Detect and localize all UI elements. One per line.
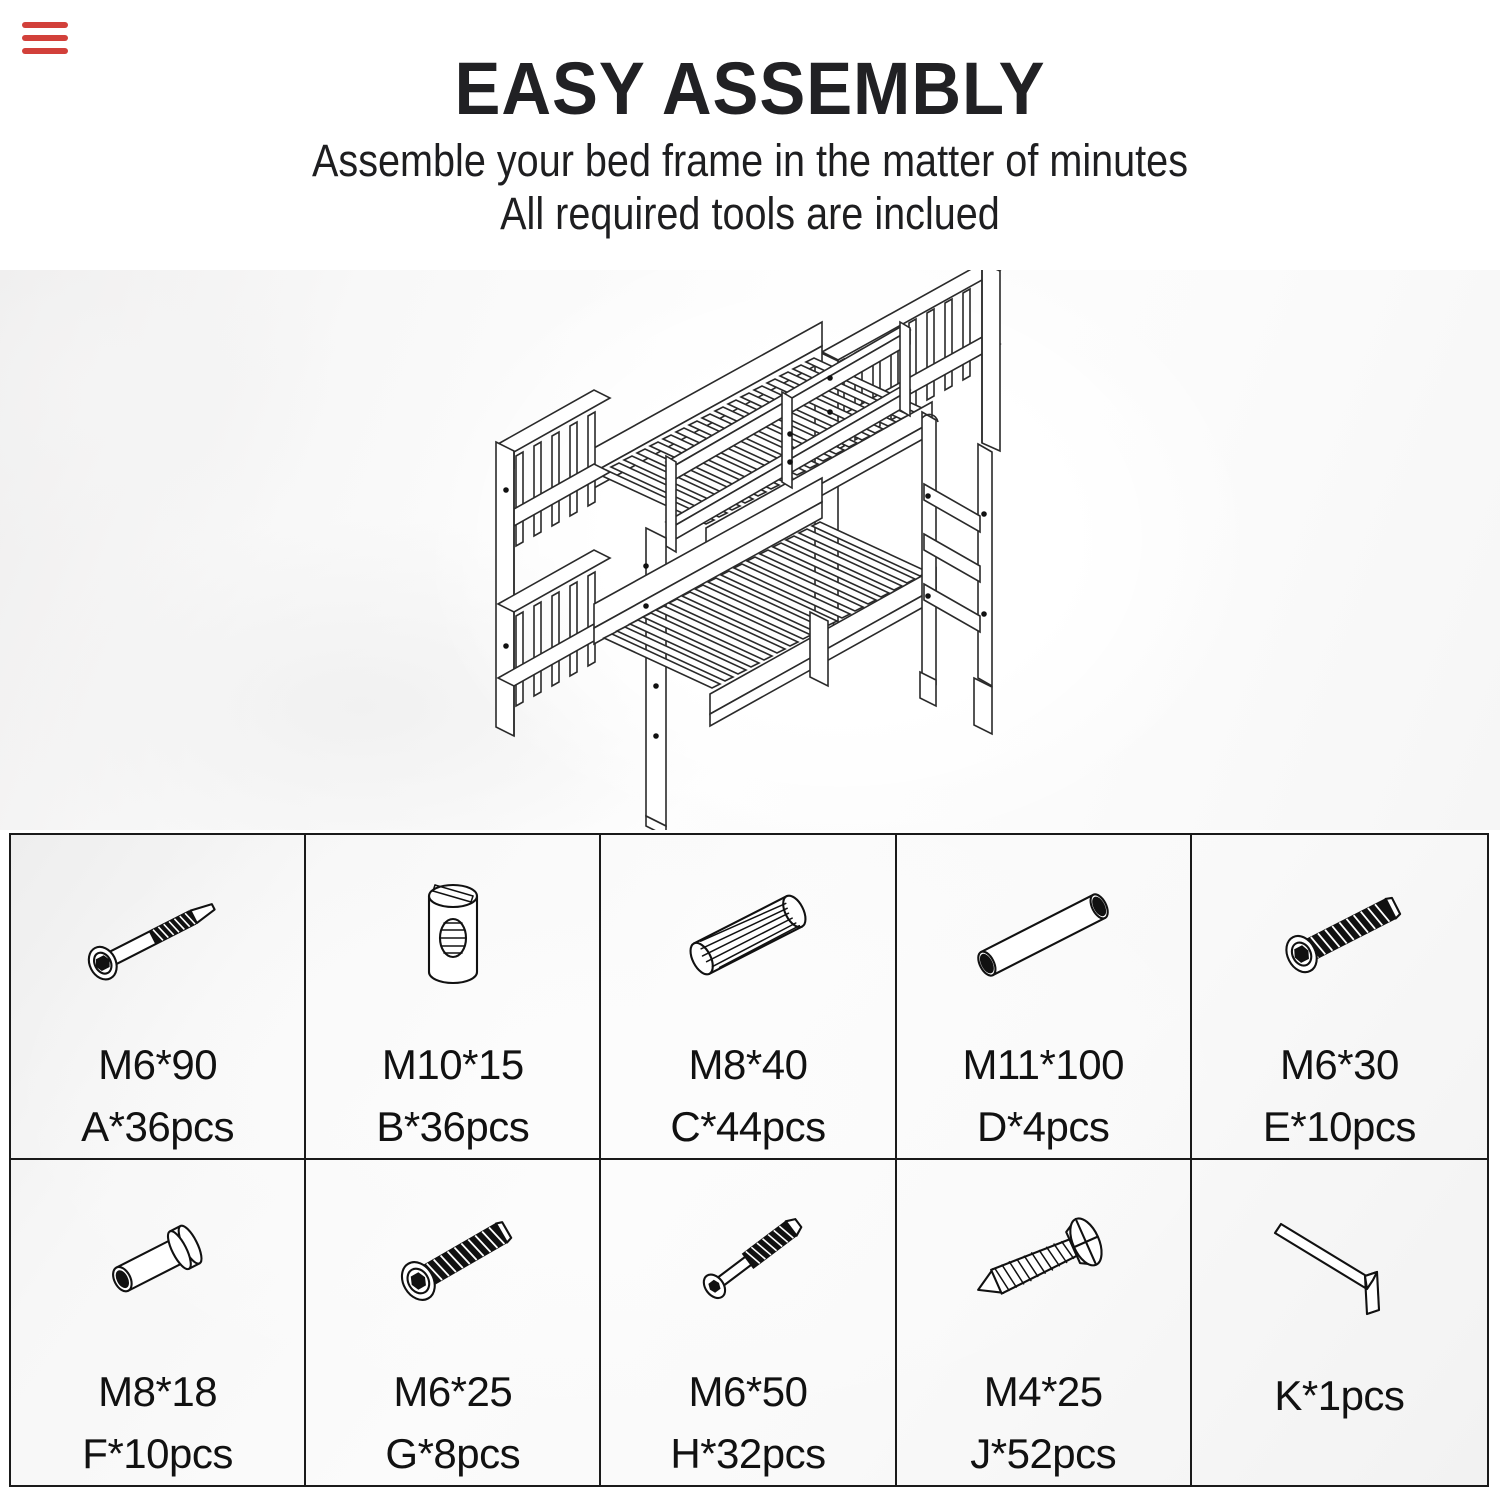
part-label-c: M8*40 C*44pcs <box>601 1034 894 1158</box>
metal-sleeve-icon <box>897 835 1190 1034</box>
part-qty-j: J*52pcs <box>897 1423 1190 1485</box>
part-size-j: M4*25 <box>897 1361 1190 1423</box>
part-cell-b[interactable]: M10*15 B*36pcs <box>306 835 601 1160</box>
part-cell-j[interactable]: M4*25 J*52pcs <box>897 1160 1192 1485</box>
flanged-barrel-nut-icon <box>11 1160 304 1361</box>
part-cell-d[interactable]: M11*100 D*4pcs <box>897 835 1192 1160</box>
phillips-wood-screw-icon <box>897 1160 1190 1361</box>
part-label-e: M6*30 E*10pcs <box>1192 1034 1487 1158</box>
part-cell-k[interactable]: K*1pcs <box>1192 1160 1487 1485</box>
page-title: EASY ASSEMBLY <box>53 46 1448 131</box>
part-label-h: M6*50 H*32pcs <box>601 1361 894 1485</box>
subtitle-line-2: All required tools are inclued <box>90 187 1410 240</box>
easy-assembly-page: EASY ASSEMBLY Assemble your bed frame in… <box>0 0 1500 1500</box>
part-label-f: M8*18 F*10pcs <box>11 1361 304 1485</box>
illustration-area <box>0 270 1500 830</box>
part-qty-h: H*32pcs <box>601 1423 894 1485</box>
page-header: EASY ASSEMBLY Assemble your bed frame in… <box>0 0 1500 270</box>
part-label-j: M4*25 J*52pcs <box>897 1361 1190 1485</box>
part-cell-g[interactable]: M6*25 G*8pcs <box>306 1160 601 1485</box>
part-size-g: M6*25 <box>306 1361 599 1423</box>
part-size-b: M10*15 <box>306 1034 599 1096</box>
part-qty-f: F*10pcs <box>11 1423 304 1485</box>
part-cell-h[interactable]: M6*50 H*32pcs <box>601 1160 896 1485</box>
part-qty-a: A*36pcs <box>11 1096 304 1158</box>
socket-cap-screw-icon <box>306 1160 599 1361</box>
allen-hex-key-icon <box>1192 1160 1487 1365</box>
part-cell-f[interactable]: M8*18 F*10pcs <box>11 1160 306 1485</box>
confirmat-screw-icon <box>601 1160 894 1361</box>
wooden-dowel-icon <box>601 835 894 1034</box>
part-size-f: M8*18 <box>11 1361 304 1423</box>
part-qty-e: E*10pcs <box>1192 1096 1487 1158</box>
bunk-bed-assembly-diagram <box>470 270 1030 830</box>
part-qty-k: K*1pcs <box>1192 1365 1487 1427</box>
part-size-a: M6*90 <box>11 1034 304 1096</box>
part-cell-e[interactable]: M6*30 E*10pcs <box>1192 835 1487 1160</box>
part-label-g: M6*25 G*8pcs <box>306 1361 599 1485</box>
part-qty-b: B*36pcs <box>306 1096 599 1158</box>
part-size-c: M8*40 <box>601 1034 894 1096</box>
part-qty-g: G*8pcs <box>306 1423 599 1485</box>
long-hex-socket-bolt-icon <box>11 835 304 1034</box>
hamburger-bar-1 <box>22 22 68 28</box>
part-size-e: M6*30 <box>1192 1034 1487 1096</box>
part-qty-d: D*4pcs <box>897 1096 1190 1158</box>
hamburger-bar-2 <box>22 35 68 41</box>
part-label-d: M11*100 D*4pcs <box>897 1034 1190 1158</box>
hex-socket-cap-screw-icon <box>1192 835 1487 1034</box>
parts-list-table: M6*90 A*36pcs <box>9 833 1489 1487</box>
barrel-nut-icon <box>306 835 599 1034</box>
part-label-b: M10*15 B*36pcs <box>306 1034 599 1158</box>
page-subtitle: Assemble your bed frame in the matter of… <box>90 134 1410 240</box>
part-label-k: K*1pcs <box>1192 1365 1487 1427</box>
subtitle-line-1: Assemble your bed frame in the matter of… <box>90 134 1410 187</box>
part-cell-c[interactable]: M8*40 C*44pcs <box>601 835 896 1160</box>
part-size-h: M6*50 <box>601 1361 894 1423</box>
part-qty-c: C*44pcs <box>601 1096 894 1158</box>
part-label-a: M6*90 A*36pcs <box>11 1034 304 1158</box>
part-cell-a[interactable]: M6*90 A*36pcs <box>11 835 306 1160</box>
part-size-d: M11*100 <box>897 1034 1190 1096</box>
